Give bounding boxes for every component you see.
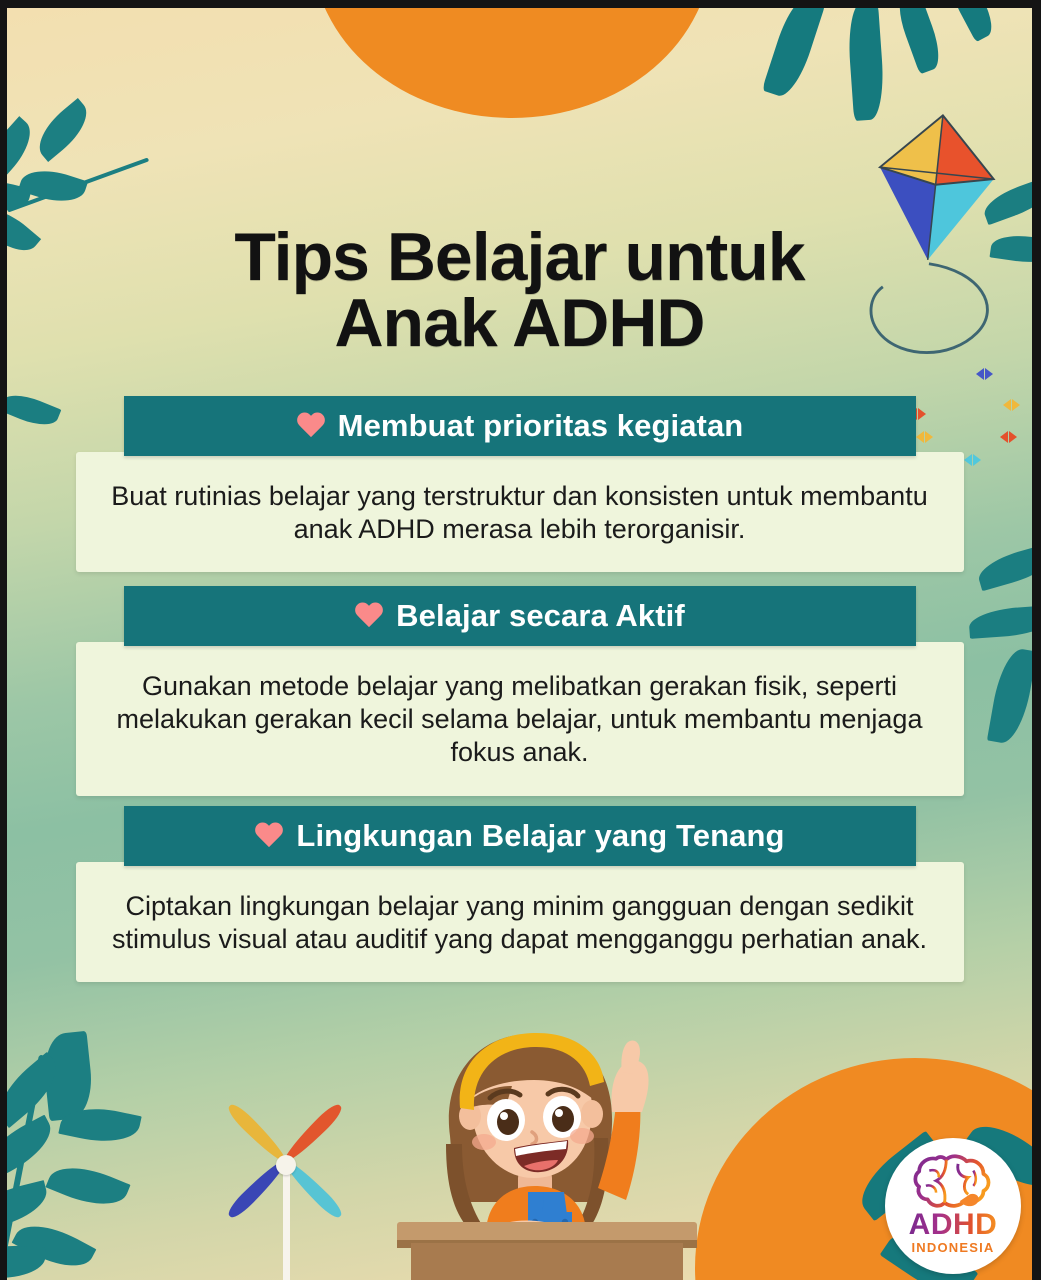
tip-card-title: Membuat prioritas kegiatan: [338, 408, 744, 444]
logo-badge: ADHD INDONESIA: [885, 1138, 1021, 1274]
leaf-branch-top-left: [7, 63, 185, 243]
pinwheel-icon: [222, 1103, 392, 1280]
tip-card: Membuat prioritas kegiatan Buat rutinias…: [7, 396, 1032, 572]
tip-card-title: Belajar secara Aktif: [396, 598, 685, 634]
infographic-poster: Tips Belajar untuk Anak ADHD Membuat pri…: [0, 0, 1041, 1280]
title-line-1: Tips Belajar untuk: [234, 219, 804, 295]
pinwheel-stick: [283, 1169, 290, 1280]
heart-icon: [254, 823, 284, 850]
tip-card-body: Ciptakan lingkungan belajar yang minim g…: [76, 862, 964, 982]
hanging-leaf-4: [945, 8, 999, 42]
leaf-branch-bottom-left: [7, 1023, 257, 1280]
pinwheel-hub: [276, 1155, 296, 1175]
tip-card-title: Lingkungan Belajar yang Tenang: [296, 818, 784, 854]
tip-card-header: Lingkungan Belajar yang Tenang: [124, 806, 916, 866]
frame-edge-top: [0, 0, 1041, 8]
hanging-leaf-1: [762, 8, 826, 101]
frame-edge-left: [0, 0, 7, 1280]
poster-canvas: Tips Belajar untuk Anak ADHD Membuat pri…: [7, 8, 1032, 1280]
frame-edge-right: [1032, 0, 1041, 1280]
orange-circle-top: [312, 8, 712, 118]
kite-tail-bow: [976, 368, 993, 380]
desk-illustration: [397, 1222, 697, 1280]
logo-name: ADHD: [909, 1210, 998, 1240]
heart-icon: [296, 413, 326, 440]
hanging-leaf-2: [846, 8, 886, 121]
heart-icon: [354, 603, 384, 630]
logo-subtitle: INDONESIA: [911, 1241, 994, 1254]
girl-student-illustration: [402, 1016, 707, 1280]
tip-card-header: Membuat prioritas kegiatan: [124, 396, 916, 456]
page-title: Tips Belajar untuk Anak ADHD: [7, 224, 1032, 357]
tip-card: Lingkungan Belajar yang Tenang Ciptakan …: [7, 806, 1032, 982]
tip-card: Belajar secara Aktif Gunakan metode bela…: [7, 586, 1032, 796]
hanging-leaf-3: [892, 8, 946, 74]
title-line-2: Anak ADHD: [7, 290, 1032, 357]
tip-card-header: Belajar secara Aktif: [124, 586, 916, 646]
tip-card-body: Buat rutinias belajar yang terstruktur d…: [76, 452, 964, 572]
tip-card-body: Gunakan metode belajar yang melibatkan g…: [76, 642, 964, 796]
